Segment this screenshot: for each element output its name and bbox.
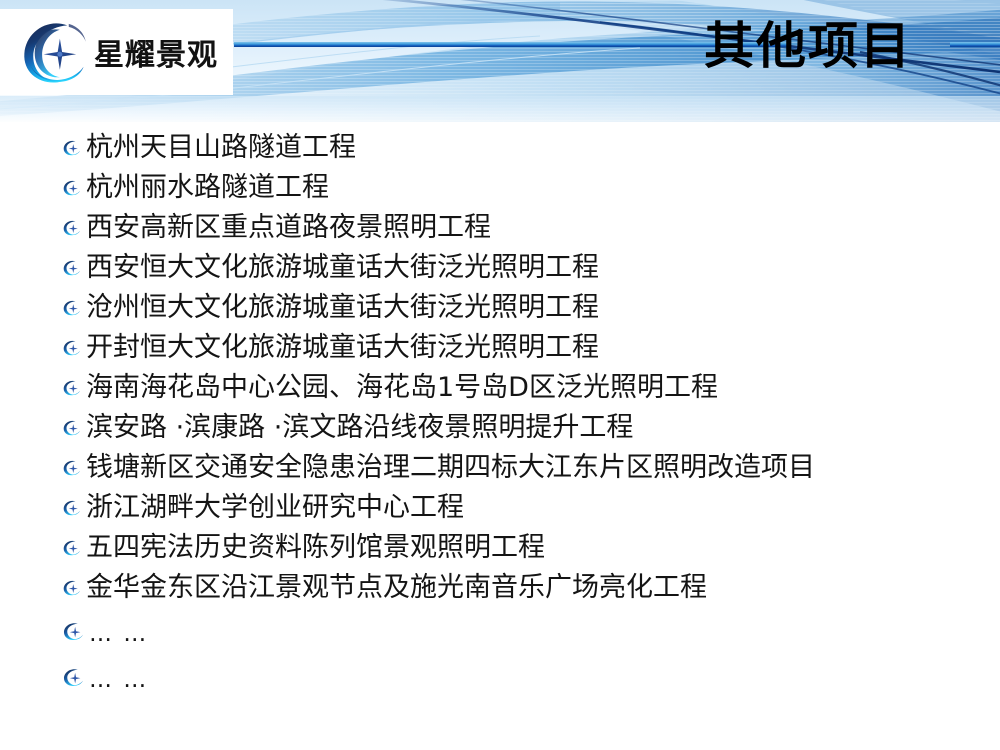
header-accent-rule-right (950, 42, 1000, 47)
list-item-label: … … (89, 623, 148, 646)
crescent-star-bullet-icon (62, 219, 80, 237)
list-item-label: … … (89, 669, 148, 692)
project-list: 杭州天目山路隧道工程 杭州丽水路隧道工程 西安高新区重点道路夜景照明工程 (62, 127, 982, 699)
crescent-star-bullet-icon (62, 539, 80, 557)
list-item-label: 西安高新区重点道路夜景照明工程 (86, 214, 491, 241)
presentation-slide: 星耀景观 其他项目 杭州天目山路隧道工程 (0, 0, 1000, 750)
list-item: 杭州天目山路隧道工程 (62, 127, 982, 167)
list-item: 金华金东区沿江景观节点及施光南音乐广场亮化工程 (62, 567, 982, 607)
crescent-star-bullet-icon (62, 379, 80, 397)
list-item: 五四宪法历史资料陈列馆景观照明工程 (62, 527, 982, 567)
crescent-star-bullet-icon (62, 339, 80, 357)
company-logo-plate: 星耀景观 (0, 9, 233, 95)
list-item: 开封恒大文化旅游城童话大街泛光照明工程 (62, 327, 982, 367)
list-item-label: 开封恒大文化旅游城童话大街泛光照明工程 (86, 334, 599, 361)
crescent-star-bullet-icon (62, 459, 80, 477)
list-item-label: 海南海花岛中心公园、海花岛1号岛D区泛光照明工程 (86, 374, 718, 401)
company-name-label: 星耀景观 (94, 30, 218, 74)
list-item: 滨安路 ·滨康路 ·滨文路沿线夜景照明提升工程 (62, 407, 982, 447)
list-item-label: 滨安路 ·滨康路 ·滨文路沿线夜景照明提升工程 (86, 414, 633, 441)
crescent-star-bullet-icon (62, 419, 80, 437)
list-item-label: 浙江湖畔大学创业研究中心工程 (86, 494, 464, 521)
list-item: … … (62, 653, 982, 699)
list-item-label: 沧州恒大文化旅游城童话大街泛光照明工程 (86, 294, 599, 321)
list-item-label: 钱塘新区交通安全隐患治理二期四标大江东片区照明改造项目 (86, 454, 815, 481)
page-title: 其他项目 (704, 16, 912, 76)
list-item-label: 西安恒大文化旅游城童话大街泛光照明工程 (86, 254, 599, 281)
crescent-star-bullet-icon (62, 179, 80, 197)
list-item: 钱塘新区交通安全隐患治理二期四标大江东片区照明改造项目 (62, 447, 982, 487)
crescent-star-bullet-icon (62, 667, 83, 688)
crescent-star-bullet-icon (62, 299, 80, 317)
list-item-label: 金华金东区沿江景观节点及施光南音乐广场亮化工程 (86, 574, 707, 601)
list-item-label: 杭州丽水路隧道工程 (86, 174, 329, 201)
crescent-star-bullet-icon (62, 621, 83, 642)
list-item: 沧州恒大文化旅游城童话大街泛光照明工程 (62, 287, 982, 327)
list-item: 杭州丽水路隧道工程 (62, 167, 982, 207)
list-item: 浙江湖畔大学创业研究中心工程 (62, 487, 982, 527)
list-item-label: 杭州天目山路隧道工程 (86, 134, 356, 161)
crescent-star-bullet-icon (62, 579, 80, 597)
list-item: 西安恒大文化旅游城童话大街泛光照明工程 (62, 247, 982, 287)
crescent-star-bullet-icon (62, 139, 80, 157)
list-item-label: 五四宪法历史资料陈列馆景观照明工程 (86, 534, 545, 561)
crescent-star-bullet-icon (62, 499, 80, 517)
crescent-star-bullet-icon (62, 259, 80, 277)
list-item: … … (62, 607, 982, 653)
list-item: 西安高新区重点道路夜景照明工程 (62, 207, 982, 247)
crescent-star-logo-icon (14, 15, 88, 89)
list-item: 海南海花岛中心公园、海花岛1号岛D区泛光照明工程 (62, 367, 982, 407)
